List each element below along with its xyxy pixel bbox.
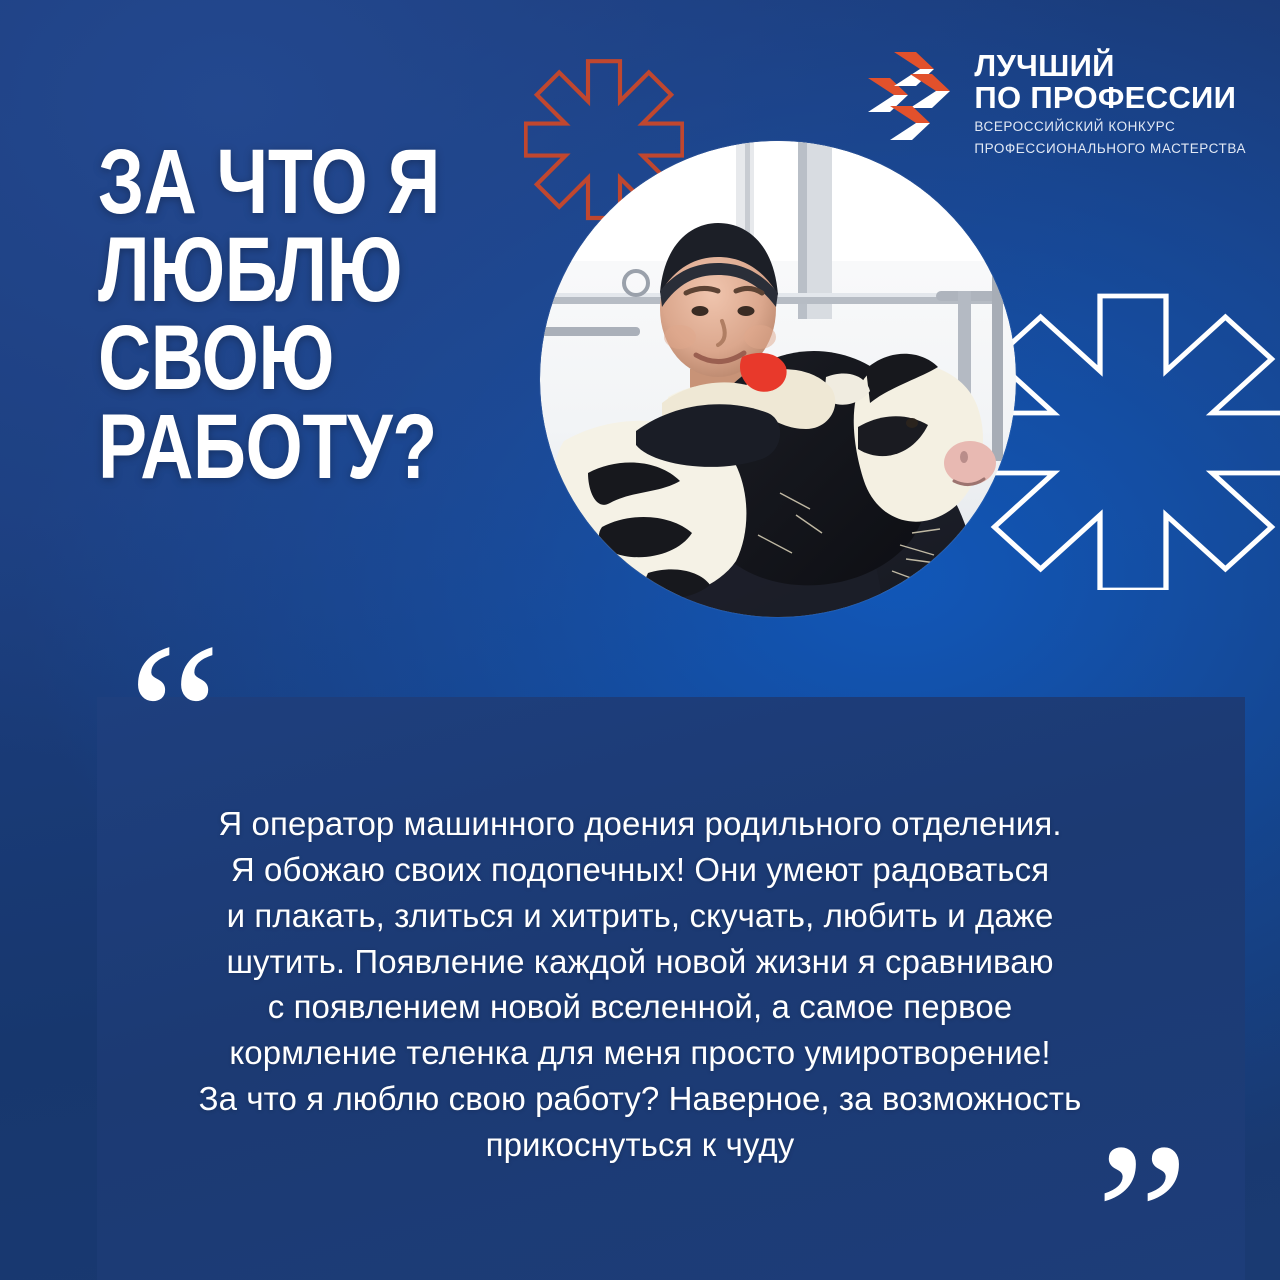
chevron-stack-icon [866,52,958,148]
headline-line-3: СВОЮ [98,314,570,402]
quote-line-2: Я обожаю своих подопечных! Они умеют рад… [150,847,1130,893]
brand-logo-text: ЛУЧШИЙ ПО ПРОФЕССИИ ВСЕРОССИЙСКИЙ КОНКУР… [974,48,1246,158]
quote-line-5: с появлением новой вселенной, а самое пе… [150,984,1130,1030]
headline-line-1: ЗА ЧТО Я [98,138,570,226]
brand-logo: ЛУЧШИЙ ПО ПРОФЕССИИ ВСЕРОССИЙСКИЙ КОНКУР… [866,48,1246,158]
logo-title-line-1: ЛУЧШИЙ [974,50,1246,82]
logo-subtitle-line-2: ПРОФЕССИОНАЛЬНОГО МАСТЕРСТВА [974,140,1246,157]
quote-line-6: кормление теленка для меня просто умирот… [150,1030,1130,1076]
headline-line-2: ЛЮБЛЮ [98,226,570,314]
quote-line-7: За что я люблю свою работу? Наверное, за… [150,1076,1130,1122]
headline-line-4: РАБОТУ? [98,403,570,491]
logo-subtitle-line-1: ВСЕРОССИЙСКИЙ КОНКУРС [974,118,1246,135]
opening-quote-mark: “ [128,612,219,732]
poster-canvas: ЗА ЧТО Я ЛЮБЛЮ СВОЮ РАБОТУ? [0,0,1280,1280]
quote-text: Я оператор машинного доения родильного о… [40,801,1240,1168]
asterisk-outline-icon [968,290,1280,590]
quote-line-3: и плакать, злиться и хитрить, скучать, л… [150,893,1130,939]
quote-line-4: шутить. Появление каждой новой жизни я с… [150,939,1130,985]
portrait-photo [540,141,1016,617]
logo-title-line-2: ПО ПРОФЕССИИ [974,82,1246,114]
quote-line-1: Я оператор машинного доения родильного о… [150,801,1130,847]
page-title: ЗА ЧТО Я ЛЮБЛЮ СВОЮ РАБОТУ? [98,138,570,491]
quote-line-8: прикоснуться к чуду [150,1122,1130,1168]
